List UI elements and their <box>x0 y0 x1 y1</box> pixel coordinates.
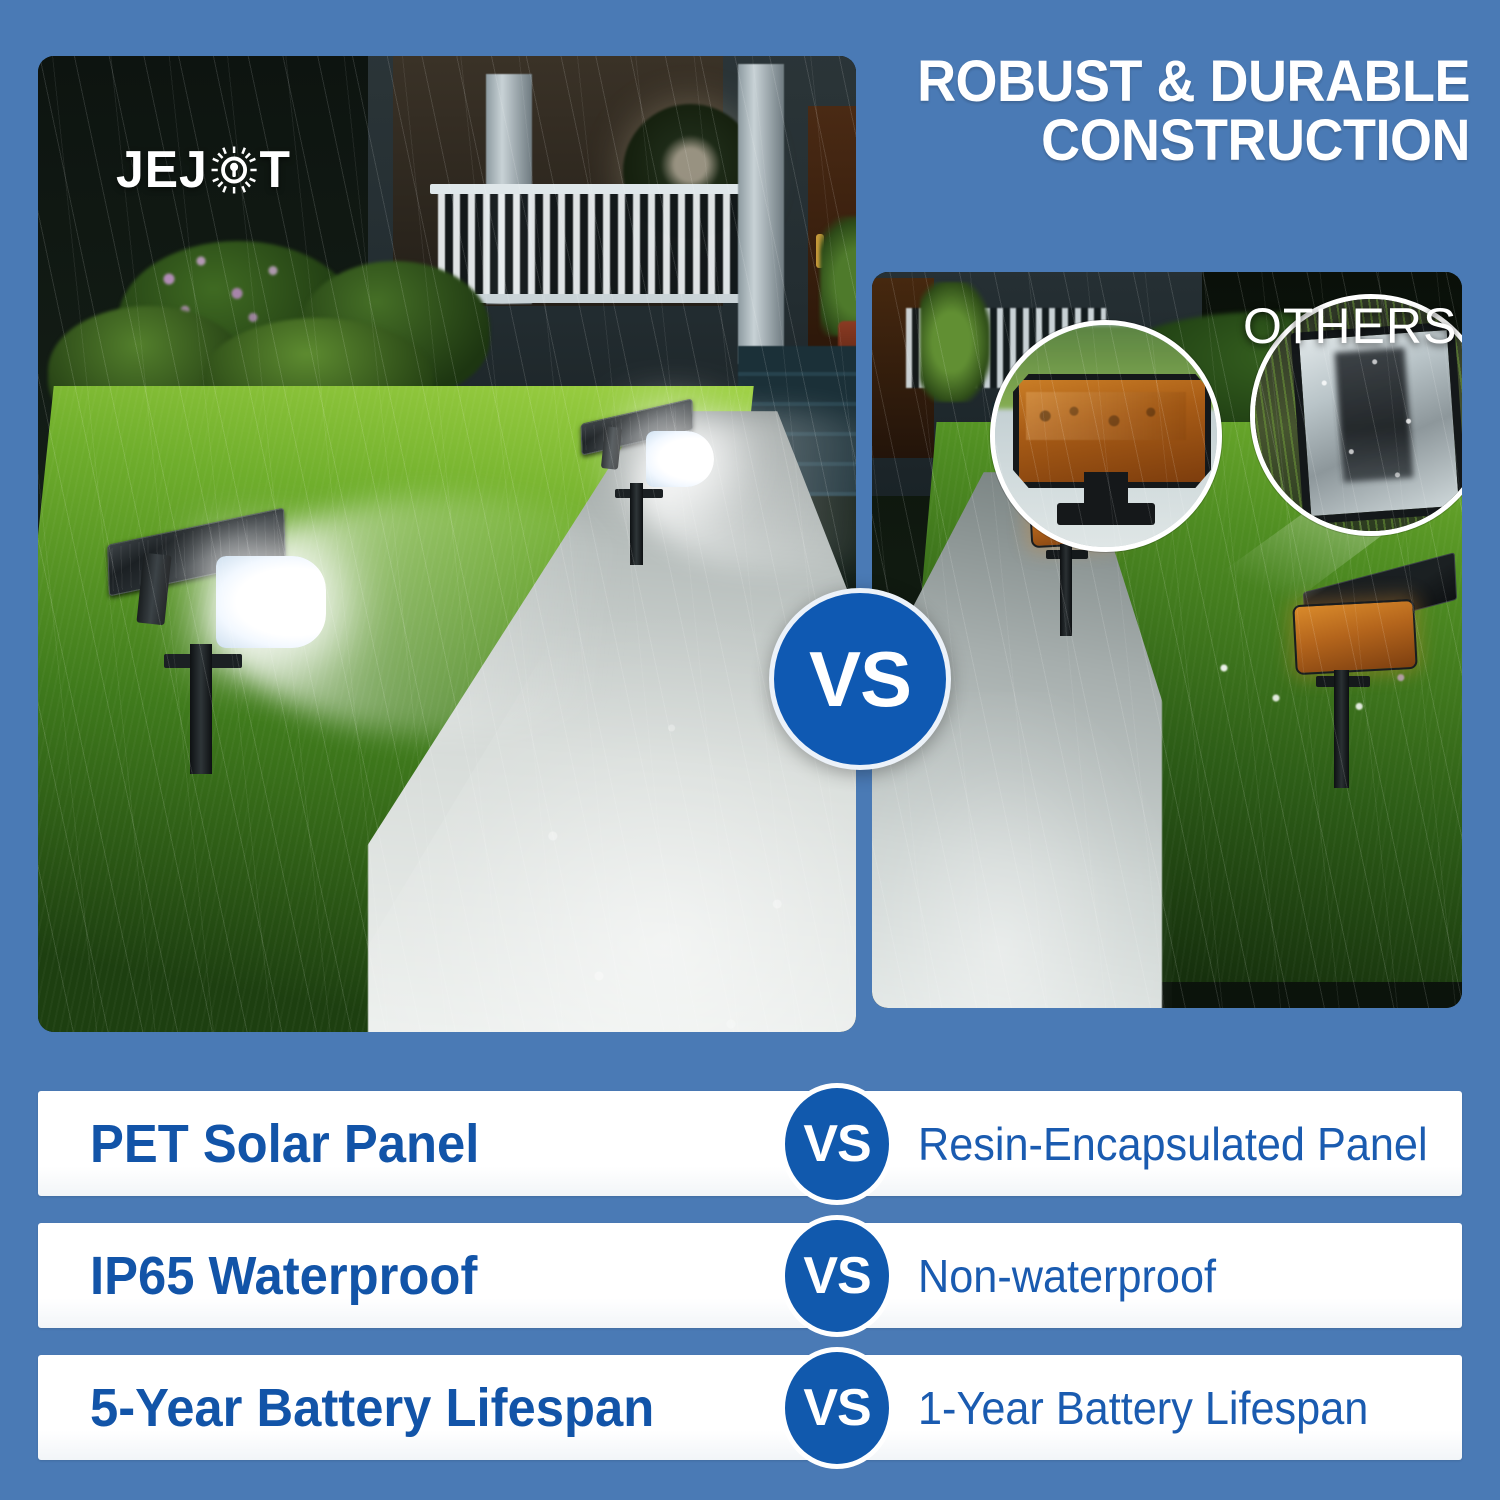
feature-ours: 5-Year Battery Lifespan <box>90 1377 654 1439</box>
solar-spotlight-secondary <box>573 411 773 561</box>
comparison-row: 5-Year Battery Lifespan VS 1-Year Batter… <box>38 1355 1462 1460</box>
ground-stake <box>190 644 212 774</box>
rusted-circuit-detail <box>1026 392 1186 441</box>
light-arm <box>601 426 622 470</box>
infographic-canvas: ROBUST & DURABLE CONSTRUCTION <box>0 0 1500 1500</box>
vs-badge-main: VS <box>769 588 951 770</box>
porch-railing <box>438 191 738 301</box>
comparison-rows: PET Solar Panel VS Resin-Encapsulated Pa… <box>38 1091 1462 1487</box>
feature-theirs: Non-waterproof <box>918 1249 1216 1303</box>
potted-plant-foliage <box>820 216 856 336</box>
light-arm <box>136 553 171 626</box>
headline-line-1: ROBUST & DURABLE <box>903 52 1470 111</box>
product-photo-ours: JEJ <box>38 56 856 1032</box>
brand-logo: JEJ <box>116 140 291 200</box>
feature-theirs: 1-Year Battery Lifespan <box>918 1381 1368 1435</box>
ground-stake <box>1334 670 1349 788</box>
headline-line-2: CONSTRUCTION <box>903 111 1470 170</box>
sunburst-o-icon <box>211 146 257 194</box>
comparison-row: IP65 Waterproof VS Non-waterproof <box>38 1223 1462 1328</box>
potted-plant-foliage <box>920 282 990 402</box>
vs-badge-row: VS <box>780 1215 894 1337</box>
others-label: OTHERS <box>1243 297 1457 355</box>
mount-plate <box>1057 503 1155 525</box>
competitor-light-2 <box>1282 572 1462 802</box>
feature-ours: PET Solar Panel <box>90 1113 479 1175</box>
ground-stake <box>1060 544 1072 636</box>
feature-ours: IP65 Waterproof <box>90 1245 477 1307</box>
page-title: ROBUST & DURABLE CONSTRUCTION <box>903 52 1470 170</box>
railing-top-rail <box>430 184 746 194</box>
vs-badge-row: VS <box>780 1347 894 1469</box>
vs-badge-row: VS <box>780 1083 894 1205</box>
feature-theirs: Resin-Encapsulated Panel <box>918 1117 1428 1171</box>
product-photo-others <box>872 272 1462 1008</box>
solar-spotlight-primary <box>98 526 398 776</box>
comparison-row: PET Solar Panel VS Resin-Encapsulated Pa… <box>38 1091 1462 1196</box>
led-light-head <box>646 431 714 487</box>
led-light-head <box>216 556 326 648</box>
ground-stake <box>630 483 643 565</box>
logo-text-suffix: T <box>260 140 291 200</box>
porch-column-right <box>738 64 784 364</box>
logo-text-prefix: JEJ <box>116 140 208 200</box>
amber-light-head <box>1292 599 1417 675</box>
inset-water-damaged-light-head <box>990 320 1222 552</box>
